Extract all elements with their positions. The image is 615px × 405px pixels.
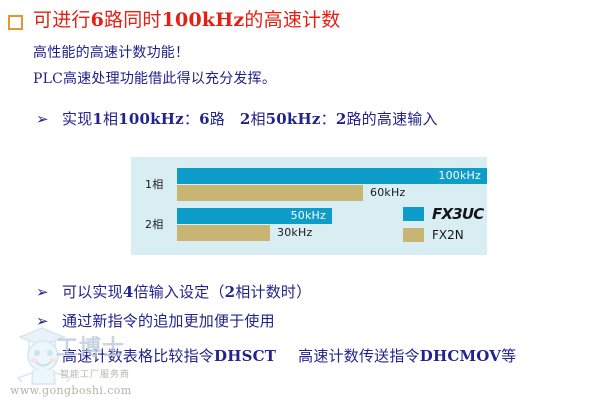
text-segment-bold: 6 <box>199 110 210 128</box>
bullet-line-3-text: 通过新指令的追加更加便于使用 <box>62 310 275 331</box>
bar-value-label: 30kHz <box>277 226 312 240</box>
bar-value-label: 50kHz <box>291 209 326 223</box>
page-title: 可进行6路同时100kHz的高速计数 <box>8 8 340 32</box>
instruction-name-dhcmov: DHCMOV <box>420 347 501 365</box>
bullet-line-2-text: 可以实现4倍输入设定（2相计数时） <box>62 281 311 302</box>
text-segment: ： <box>321 110 336 128</box>
legend-item-fx2n: FX2N <box>403 226 485 243</box>
bullet-line-new-instructions: ➢ 通过新指令的追加更加便于使用 <box>36 310 275 331</box>
legend-label-fx3uc: FX3UC <box>432 205 483 223</box>
title-segment: 可进行 <box>33 9 91 31</box>
slide-canvas: 可进行6路同时100kHz的高速计数 高性能的高速计数功能！ PLC高速处理功能… <box>0 0 615 405</box>
text-segment: 相 <box>250 110 265 128</box>
page-title-text: 可进行6路同时100kHz的高速计数 <box>33 8 340 32</box>
bar-value-label: 60kHz <box>370 186 405 200</box>
bullet-line-quadruple-input: ➢ 可以实现4倍输入设定（2相计数时） <box>36 281 311 302</box>
intro-paragraph-1: 高性能的高速计数功能！ <box>33 42 189 62</box>
text-segment: 等 <box>501 347 516 365</box>
text-segment: 相计数时） <box>235 283 311 301</box>
title-segment: 的高速计数 <box>244 9 340 31</box>
bar-1phase-fx2n <box>177 185 363 201</box>
bar-1phase-fx3uc: 100kHz <box>177 168 487 184</box>
legend-label-fx2n: FX2N <box>432 228 464 242</box>
chart-category-label: 2相 <box>145 216 179 232</box>
title-segment: 路同时 <box>104 9 162 31</box>
text-segment: 路的高速输入 <box>346 110 437 128</box>
text-segment: 可以实现 <box>62 283 123 301</box>
text-segment: 高速计数表格比较指令 <box>62 347 214 365</box>
text-segment-bold: 2 <box>240 110 251 128</box>
bullet-line-1-text: 实现1相100kHz：6路 2相50kHz：2路的高速输入 <box>62 108 438 129</box>
text-segment-bold: 2 <box>336 110 347 128</box>
text-segment-bold: 4 <box>123 283 134 301</box>
legend-item-fx3uc: FX3UC <box>403 205 485 222</box>
bar-track-1phase-fx3uc: 100kHz <box>177 168 487 184</box>
watermark-tagline: 智能工厂服务商 <box>60 367 130 380</box>
text-segment-bold: 100kHz <box>118 110 184 128</box>
high-speed-counter-bar-chart: 1相 100kHz 60kHz 2相 50kHz 30kHz <box>131 157 487 255</box>
arrow-bullet-icon: ➢ <box>36 312 62 330</box>
bar-track-1phase-fx2n: 60kHz <box>177 185 487 201</box>
watermark-url: www.gongboshi.com <box>10 384 132 397</box>
bar-2phase-fx2n <box>177 225 270 241</box>
legend-swatch-icon <box>403 228 424 242</box>
square-bullet-icon <box>8 15 23 30</box>
bar-2phase-fx3uc: 50kHz <box>177 208 332 224</box>
chart-legend: FX3UC FX2N <box>403 205 485 247</box>
instruction-list-line: 高速计数表格比较指令DHSCT高速计数传送指令DHCMOV等 <box>62 345 516 366</box>
text-segment: 实现 <box>62 110 92 128</box>
text-segment: ： <box>184 110 199 128</box>
arrow-bullet-icon: ➢ <box>36 110 62 128</box>
legend-swatch-icon <box>403 207 424 221</box>
chart-category-label: 1相 <box>145 176 179 192</box>
text-segment-bold: 50kHz <box>266 110 321 128</box>
text-segment: 相 <box>103 110 118 128</box>
text-segment-bold: 1 <box>92 110 103 128</box>
bar-value-label: 100kHz <box>438 169 481 183</box>
intro-paragraph-2: PLC高速处理功能借此得以充分发挥。 <box>33 68 276 88</box>
arrow-bullet-icon: ➢ <box>36 283 62 301</box>
instruction-name-dhsct: DHSCT <box>214 347 276 365</box>
text-gap <box>225 110 240 128</box>
text-segment: 高速计数传送指令 <box>298 347 420 365</box>
text-segment: 倍输入设定（ <box>133 283 224 301</box>
title-segment-bold: 6 <box>91 9 104 31</box>
text-segment-bold: 2 <box>225 283 236 301</box>
chart-row-1phase: 1相 100kHz 60kHz <box>131 167 487 204</box>
text-segment: 路 <box>210 110 225 128</box>
title-segment-bold: 100kHz <box>162 9 245 31</box>
bullet-line-high-speed-input: ➢ 实现1相100kHz：6路 2相50kHz：2路的高速输入 <box>36 108 438 129</box>
